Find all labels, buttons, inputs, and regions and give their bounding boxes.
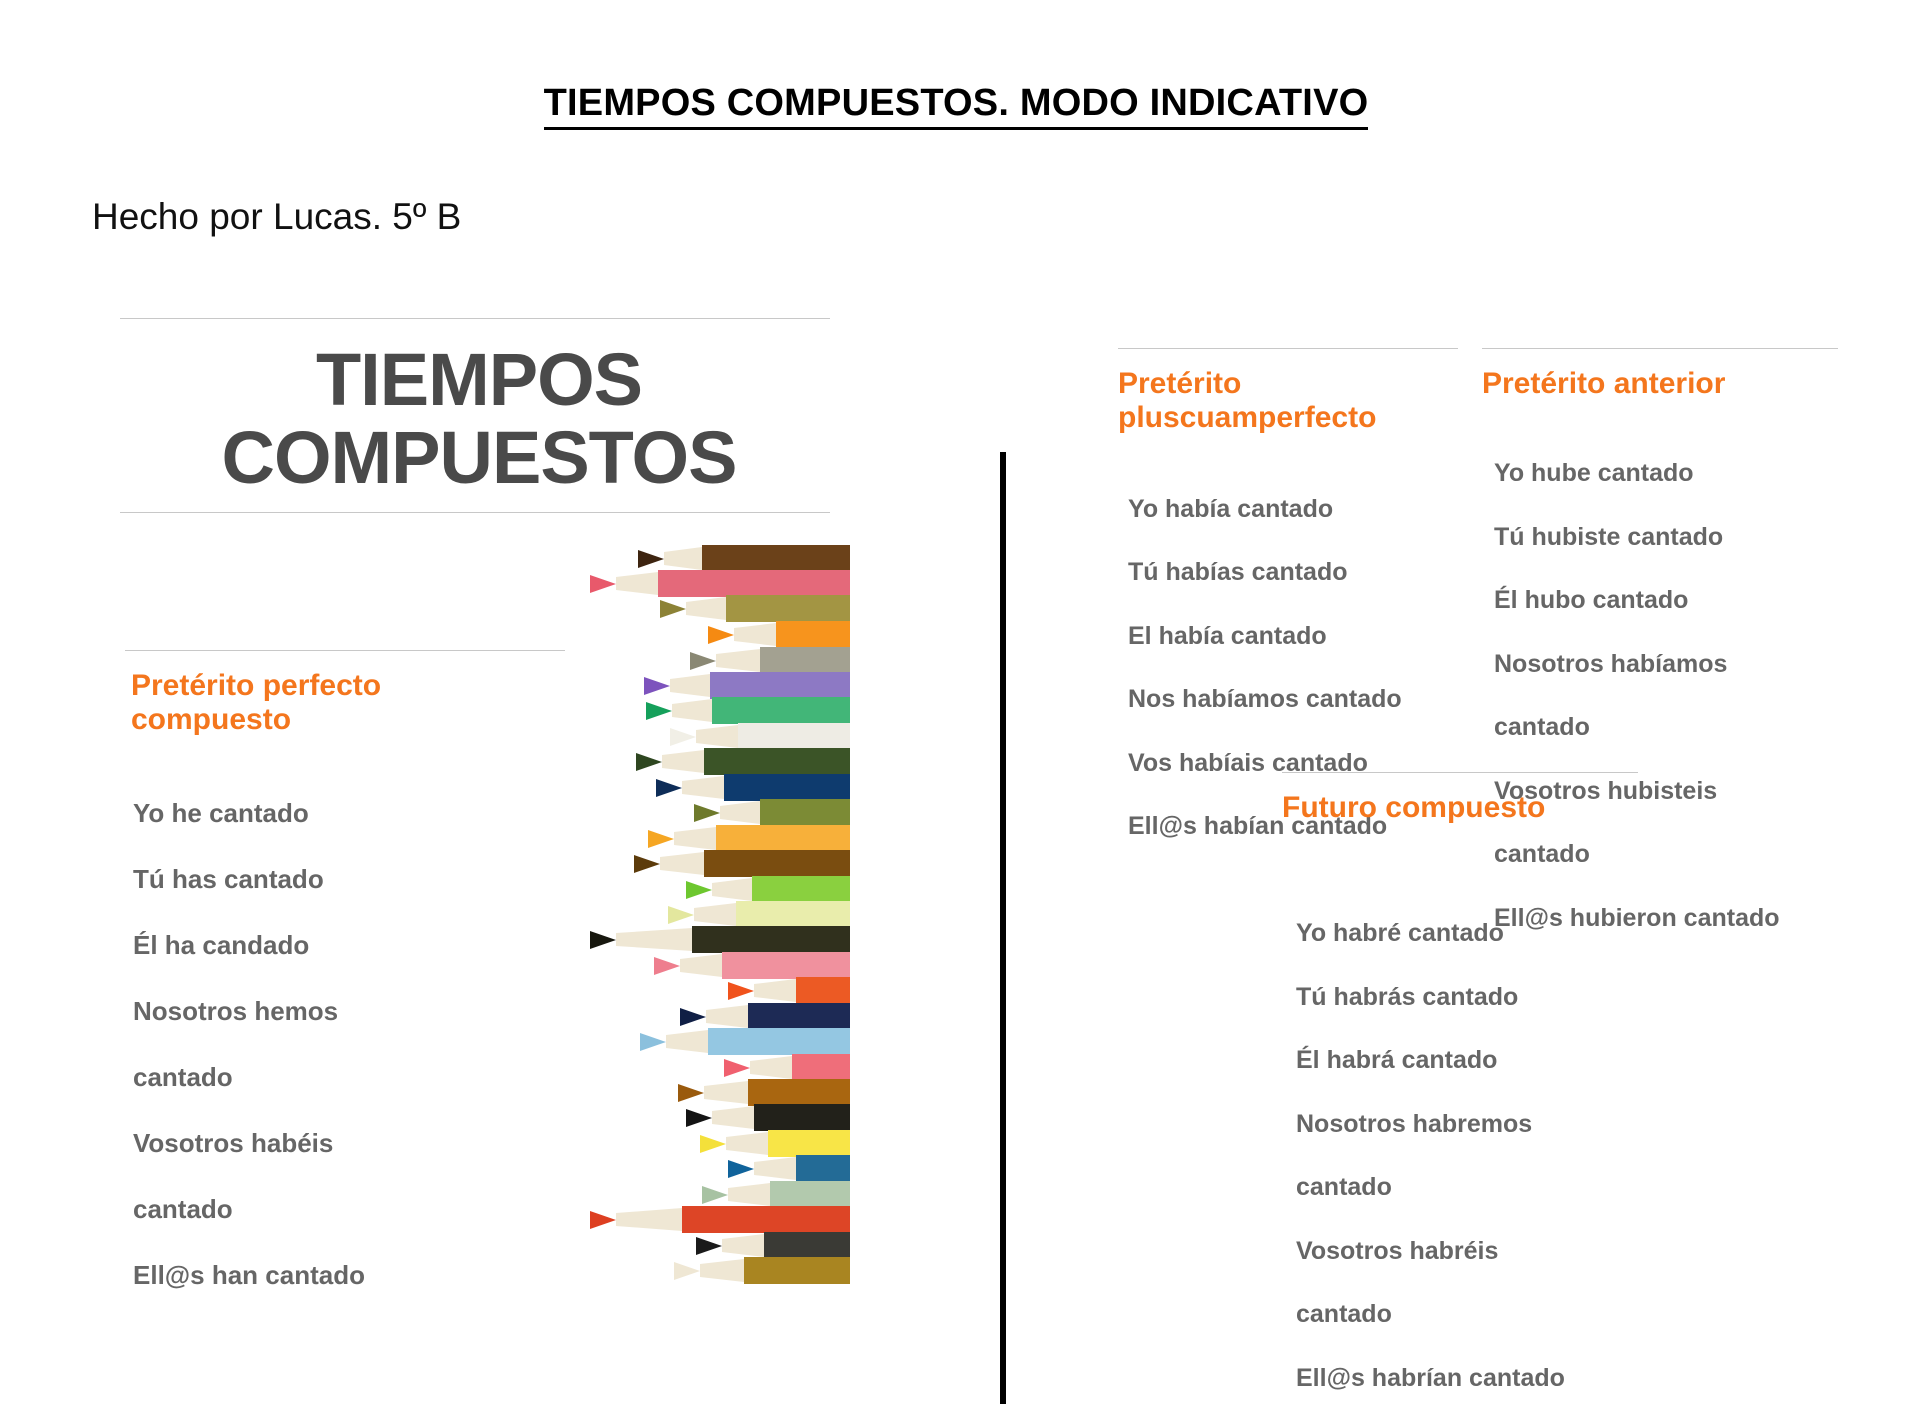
pencil-wood <box>686 597 726 620</box>
pencil-28 <box>674 1257 850 1284</box>
pencil-barrel <box>796 977 850 1004</box>
poster-heading-panel: TIEMPOS COMPUESTOS <box>120 318 838 513</box>
pencil-18 <box>680 1003 850 1030</box>
pencil-wood <box>696 725 738 748</box>
pencil-barrel <box>682 1206 850 1233</box>
poster-heading-line2: COMPUESTOS <box>120 419 838 497</box>
pencil-tip-icon <box>646 702 672 720</box>
section-title: Futuro compuesto <box>1282 791 1638 825</box>
pencil-4 <box>690 647 850 674</box>
list-item: Nos habíamos cantado <box>1128 684 1458 716</box>
pencil-barrel <box>724 774 850 801</box>
pencil-barrel <box>710 672 850 699</box>
pencil-tip-icon <box>700 1135 726 1153</box>
pencil-barrel <box>792 1054 850 1081</box>
pencil-17 <box>728 977 850 1004</box>
pencil-wood <box>680 954 722 977</box>
pencil-wood <box>716 649 760 672</box>
pencil-wood <box>616 1208 682 1231</box>
list-item: cantado <box>1296 1172 1638 1204</box>
pencil-tip-icon <box>638 550 664 568</box>
pencil-wood <box>670 674 710 697</box>
pencil-24 <box>728 1155 850 1182</box>
section-divider-line <box>1282 772 1638 773</box>
list-item: Él ha candado <box>133 929 565 962</box>
pencil-tip-icon <box>680 1008 706 1026</box>
pencil-15 <box>590 926 850 953</box>
pencil-tip-icon <box>728 982 754 1000</box>
pencil-barrel <box>770 1181 850 1208</box>
list-item: Nosotros hemos <box>133 995 565 1028</box>
pencil-barrel <box>722 952 850 979</box>
pencil-wood <box>712 1106 754 1129</box>
pencil-12 <box>634 850 850 877</box>
pencil-tip-icon <box>728 1160 754 1178</box>
pencil-barrel <box>796 1155 850 1182</box>
pencil-barrel <box>736 901 850 928</box>
pencil-9 <box>656 774 850 801</box>
pencil-wood <box>694 903 736 926</box>
page-title: TIEMPOS COMPUESTOS. MODO INDICATIVO <box>0 82 1912 125</box>
pencil-27 <box>696 1232 850 1259</box>
pencil-wood <box>616 572 658 595</box>
pencil-25 <box>702 1181 850 1208</box>
pencil-19 <box>640 1028 850 1055</box>
pencil-wood <box>706 1005 748 1028</box>
list-item: Tú hubiste cantado <box>1494 522 1838 554</box>
pencil-tip-icon <box>660 600 686 618</box>
pencil-tip-icon <box>686 881 712 899</box>
pencil-1 <box>590 570 850 597</box>
section-divider-line <box>1118 348 1458 349</box>
pencil-tip-icon <box>702 1186 728 1204</box>
pencil-11 <box>648 825 850 852</box>
pencil-tip-icon <box>674 1262 700 1280</box>
list-item: Yo he cantado <box>133 797 565 830</box>
pencil-tip-icon <box>590 1211 616 1229</box>
pencil-tip-icon <box>590 575 616 593</box>
section-preterito-perfecto-compuesto: Pretérito perfecto compuesto Yo he canta… <box>125 650 565 1325</box>
pencil-13 <box>686 876 850 903</box>
section-title: Pretérito anterior <box>1482 367 1838 401</box>
section-title-line1: Futuro compuesto <box>1282 791 1638 825</box>
pencil-wood <box>616 928 692 951</box>
pencil-wood <box>666 1030 708 1053</box>
pencil-wood <box>704 1081 748 1104</box>
pencil-tip-icon <box>634 855 660 873</box>
pencil-14 <box>668 901 850 928</box>
pencil-tip-icon <box>724 1059 750 1077</box>
pencil-tip-icon <box>668 906 694 924</box>
pencil-tip-icon <box>678 1084 704 1102</box>
pencil-tip-icon <box>648 830 674 848</box>
pencil-6 <box>646 697 850 724</box>
pencil-tip-icon <box>690 652 716 670</box>
divider-line-bottom <box>120 512 830 513</box>
list-item: Tú habrás cantado <box>1296 982 1638 1014</box>
poster-heading: TIEMPOS COMPUESTOS <box>120 319 838 512</box>
pencil-tip-icon <box>708 626 734 644</box>
list-item: Vosotros habéis <box>133 1127 565 1160</box>
list-item: Él hubo cantado <box>1494 585 1838 617</box>
pencil-wood <box>712 878 752 901</box>
pencil-wood <box>672 699 712 722</box>
section-divider-line <box>1482 348 1838 349</box>
pencil-21 <box>678 1079 850 1106</box>
pencil-wood <box>682 776 724 799</box>
pencil-tip-icon <box>696 1237 722 1255</box>
conjugation-list: Yo habré cantado Tú habrás cantado Él ha… <box>1282 887 1638 1426</box>
section-title-line2: compuesto <box>131 703 565 737</box>
pencil-10 <box>694 799 850 826</box>
pencil-barrel <box>748 1003 850 1030</box>
list-item: Vosotros habréis <box>1296 1236 1638 1268</box>
pencil-wood <box>664 547 702 570</box>
pencil-7 <box>670 723 850 750</box>
pencil-barrel <box>768 1130 850 1157</box>
pencil-23 <box>700 1130 850 1157</box>
pencil-wood <box>726 1132 768 1155</box>
pencil-barrel <box>764 1232 850 1259</box>
section-divider-line <box>125 650 565 651</box>
pencil-wood <box>754 1157 796 1180</box>
pencil-5 <box>644 672 850 699</box>
pencil-tip-icon <box>654 957 680 975</box>
pencil-barrel <box>704 850 850 877</box>
list-item: cantado <box>133 1061 565 1094</box>
pencil-barrel <box>716 825 850 852</box>
pencil-wood <box>750 1056 792 1079</box>
pencil-barrel <box>754 1104 850 1131</box>
pencil-wood <box>674 827 716 850</box>
list-item: Tú habías cantado <box>1128 557 1458 589</box>
pencil-barrel <box>776 621 850 648</box>
section-title-line1: Pretérito <box>1118 367 1458 401</box>
pencil-tip-icon <box>640 1033 666 1051</box>
pencil-wood <box>700 1259 744 1282</box>
colored-pencils-illustration <box>590 545 850 1225</box>
pencil-barrel <box>760 799 850 826</box>
section-title-line1: Pretérito anterior <box>1482 367 1838 401</box>
list-item: cantado <box>1494 712 1838 744</box>
section-futuro-compuesto: Futuro compuesto Yo habré cantado Tú hab… <box>1282 772 1638 1426</box>
list-item: Ell@s habrían cantado <box>1296 1363 1638 1395</box>
pencil-wood <box>660 852 704 875</box>
pencil-wood <box>662 750 704 773</box>
pencil-tip-icon <box>694 804 720 822</box>
pencil-wood <box>728 1183 770 1206</box>
pencil-barrel <box>702 545 850 572</box>
pencil-barrel <box>708 1028 850 1055</box>
list-item: cantado <box>1296 1299 1638 1331</box>
pencil-wood <box>754 979 796 1002</box>
author-byline: Hecho por Lucas. 5º B <box>92 196 461 238</box>
poster-heading-line1: TIEMPOS <box>120 341 838 419</box>
pencil-tip-icon <box>644 677 670 695</box>
pencil-3 <box>708 621 850 648</box>
pencil-0 <box>638 545 850 572</box>
vertical-divider <box>1000 452 1006 1404</box>
list-item: Yo habré cantado <box>1296 918 1638 950</box>
pencil-tip-icon <box>686 1109 712 1127</box>
pencil-tip-icon <box>590 931 616 949</box>
pencil-8 <box>636 748 850 775</box>
pencil-26 <box>590 1206 850 1233</box>
list-item: Ell@s han cantado <box>133 1259 565 1292</box>
pencil-16 <box>654 952 850 979</box>
section-title: Pretérito pluscuamperfecto <box>1118 367 1458 434</box>
pencil-22 <box>686 1104 850 1131</box>
pencil-20 <box>724 1054 850 1081</box>
list-item: Yo hube cantado <box>1494 458 1838 490</box>
pencil-tip-icon <box>656 779 682 797</box>
pencil-tip-icon <box>670 728 696 746</box>
conjugation-list: Yo he cantado Tú has cantado Él ha canda… <box>125 764 565 1325</box>
list-item: El había cantado <box>1128 621 1458 653</box>
pencil-barrel <box>752 876 850 903</box>
pencil-barrel <box>658 570 850 597</box>
pencil-wood <box>734 623 776 646</box>
pencil-2 <box>660 595 850 622</box>
pencil-wood <box>720 801 760 824</box>
pencil-barrel <box>760 647 850 674</box>
pencil-barrel <box>748 1079 850 1106</box>
pencil-barrel <box>692 926 850 953</box>
pencil-tip-icon <box>636 753 662 771</box>
pencil-wood <box>722 1234 764 1257</box>
list-item: cantado <box>133 1193 565 1226</box>
list-item: Nosotros habíamos <box>1494 649 1838 681</box>
section-title: Pretérito perfecto compuesto <box>125 669 565 736</box>
list-item: Yo había cantado <box>1128 494 1458 526</box>
section-title-line1: Pretérito perfecto <box>131 669 565 703</box>
page-title-text: TIEMPOS COMPUESTOS. MODO INDICATIVO <box>544 82 1369 130</box>
pencil-barrel <box>726 595 850 622</box>
pencil-barrel <box>712 697 850 724</box>
pencil-barrel <box>704 748 850 775</box>
pencil-barrel <box>744 1257 850 1284</box>
section-title-line2: pluscuamperfecto <box>1118 401 1458 435</box>
list-item: Él habrá cantado <box>1296 1045 1638 1077</box>
pencil-barrel <box>738 723 850 750</box>
list-item: Nosotros habremos <box>1296 1109 1638 1141</box>
list-item: Tú has cantado <box>133 863 565 896</box>
